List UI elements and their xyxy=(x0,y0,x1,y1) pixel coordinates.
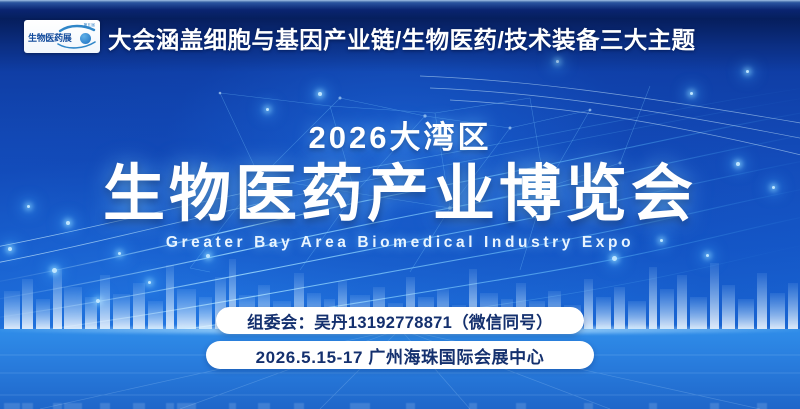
logo-edition-label: 第五届 xyxy=(84,23,95,28)
title-year-region: 2026大湾区 xyxy=(0,112,800,157)
event-poster: 第五届 生物医药展 大会涵盖细胞与基因产业链/生物医药/技术装备三大主题 202… xyxy=(0,0,800,409)
leaf-icon xyxy=(80,33,91,44)
top-band xyxy=(0,0,800,18)
organizing-committee-contact[interactable]: 组委会：吴丹13192778871（微信同号） xyxy=(216,307,584,334)
title-main: 生物医药产业博览会 xyxy=(0,164,800,226)
headline-themes: 大会涵盖细胞与基因产业链/生物医药/技术装备三大主题 xyxy=(108,21,792,55)
bio-pharma-expo-logo[interactable]: 第五届 生物医药展 xyxy=(24,20,100,53)
title-english: Greater Bay Area Biomedical Industry Exp… xyxy=(0,234,800,252)
date-and-venue[interactable]: 2026.5.15-17 广州海珠国际会展中心 xyxy=(206,341,594,369)
logo-text: 生物医药展 xyxy=(28,31,72,44)
